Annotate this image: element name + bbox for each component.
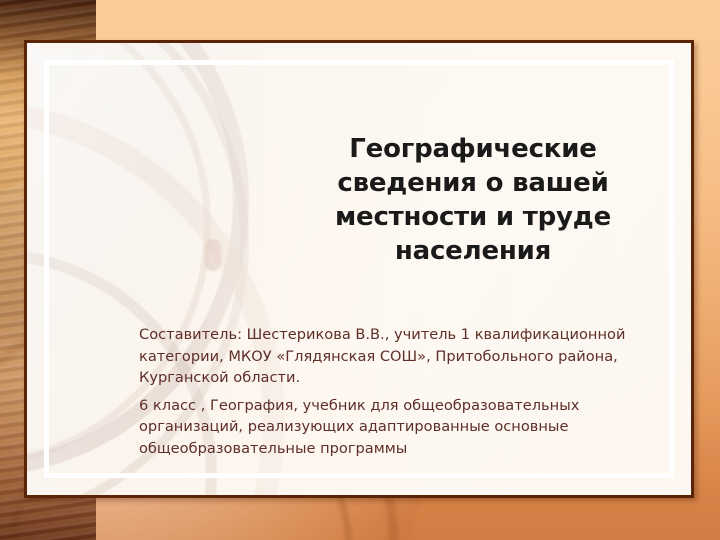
slide-body-paragraph-source: 6 класс , География, учебник для общеобр… [139,395,673,460]
slide-body-paragraph-author: Составитель: Шестерикова В.В., учитель 1… [139,324,673,389]
slide-title-line-1: Географические [266,132,680,166]
slide-title-line-4: населения [266,234,680,268]
slide-title-line-3: местности и труде [266,200,680,234]
slide-body: Составитель: Шестерикова В.В., учитель 1… [139,324,673,459]
presentation-slide: Географические сведения о вашей местност… [0,0,720,540]
slide-title-line-2: сведения о вашей [266,166,680,200]
slide-title: Географические сведения о вашей местност… [266,132,680,268]
